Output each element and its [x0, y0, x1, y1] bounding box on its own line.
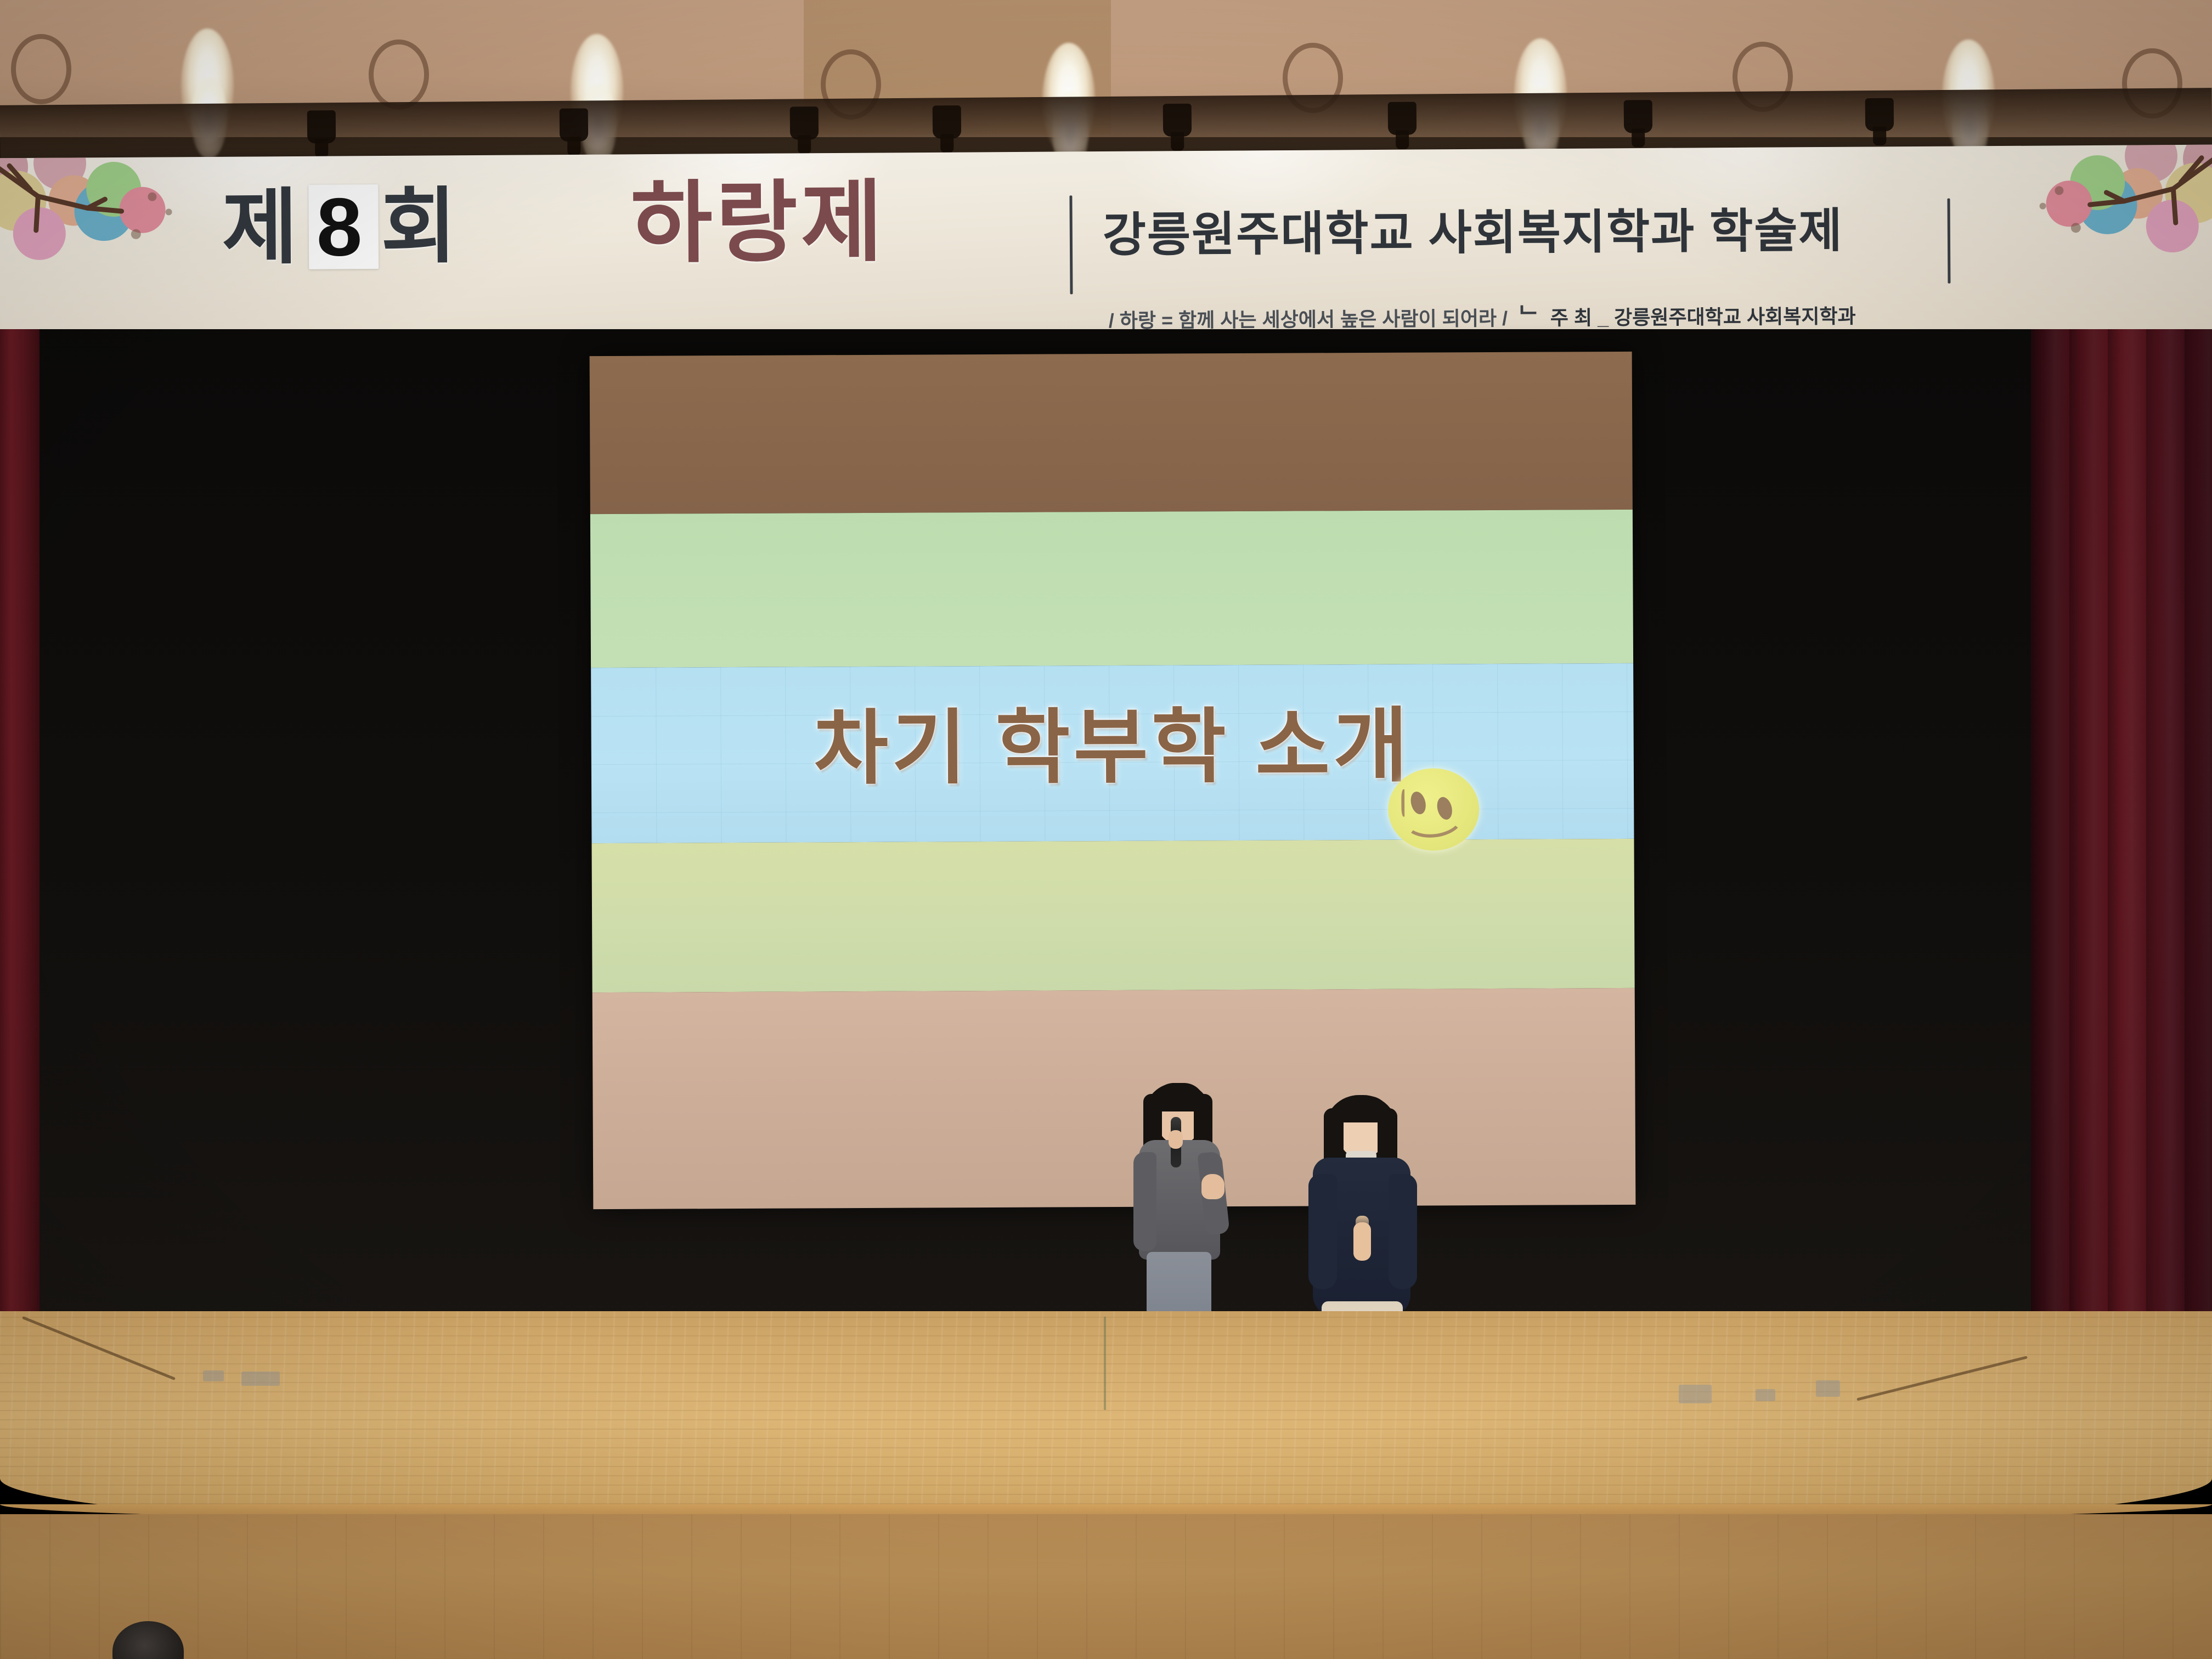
- stage-lamp-icon: [307, 110, 336, 143]
- stage-apron: [0, 1514, 2212, 1659]
- arm-left: [1308, 1174, 1337, 1289]
- stage-curtain-right: [2031, 329, 2212, 1355]
- ceiling-light-ring: [369, 39, 429, 110]
- stage-tape-mark: [1816, 1380, 1840, 1397]
- smiley-mouth-tip: [1401, 789, 1407, 817]
- banner-ordinal-prefix: 제: [222, 181, 307, 274]
- hand-holding-mic: [1169, 1130, 1183, 1149]
- hand-right: [1201, 1174, 1224, 1199]
- stage-lamp-icon: [560, 108, 588, 141]
- slide-band-bottom: [592, 988, 1636, 1209]
- stage-marking-line: [1104, 1317, 1106, 1410]
- event-banner: 제8회 하랑제 강릉원주대학교 사회복지학과 학술제 / 하랑 = 함께 사는 …: [0, 145, 2212, 351]
- stage-lamp-icon: [1624, 100, 1652, 133]
- slide-band-green-upper: [590, 510, 1633, 668]
- slide-title: 차기 학부학 소개: [591, 679, 1634, 801]
- auditorium-stage-photo: 제8회 하랑제 강릉원주대학교 사회복지학과 학술제 / 하랑 = 함께 사는 …: [0, 0, 2212, 1659]
- banner-host: 주 최 _ 강릉원주대학교 사회복지학과: [1550, 301, 1856, 331]
- stage-lamp-icon: [933, 105, 961, 138]
- banner-ordinal-suffix: 회: [381, 180, 466, 273]
- banner-divider-left: [1069, 195, 1073, 294]
- projection-screen: 차기 학부학 소개: [590, 352, 1636, 1209]
- banner-subtitle: 강릉원주대학교 사회복지학과 학술제: [1103, 207, 1843, 259]
- slide-band-top: [590, 352, 1633, 514]
- hands-clasped: [1353, 1222, 1371, 1261]
- slide-band-green-lower: [591, 839, 1634, 992]
- stage-lamp-icon: [790, 106, 819, 139]
- cherry-blossom-icon: [1997, 145, 2212, 327]
- banner-edition-number: 8: [308, 184, 379, 269]
- ceiling-light-ring: [11, 34, 71, 104]
- stage-lamp-icon: [1388, 102, 1417, 135]
- stage-tape-mark: [203, 1370, 224, 1381]
- banner-divider-right: [1947, 199, 1950, 284]
- stage-tape-mark: [1756, 1389, 1775, 1401]
- cherry-blossom-icon: [0, 146, 215, 334]
- arm-right: [1389, 1174, 1417, 1289]
- banner-host-mark: ᄂ: [1517, 296, 1540, 331]
- stage-tape-mark: [241, 1372, 280, 1386]
- stage-lamp-icon: [1163, 104, 1192, 137]
- banner-edition-title: 제8회: [222, 184, 465, 270]
- arm-left: [1133, 1152, 1156, 1251]
- smiley-face-icon: [1388, 768, 1480, 851]
- stage-tape-mark: [1679, 1385, 1712, 1403]
- stage-curtain-left: [0, 329, 39, 1355]
- banner-festival-name: 하랑제: [630, 178, 886, 268]
- stage-lamp-icon: [1865, 98, 1894, 131]
